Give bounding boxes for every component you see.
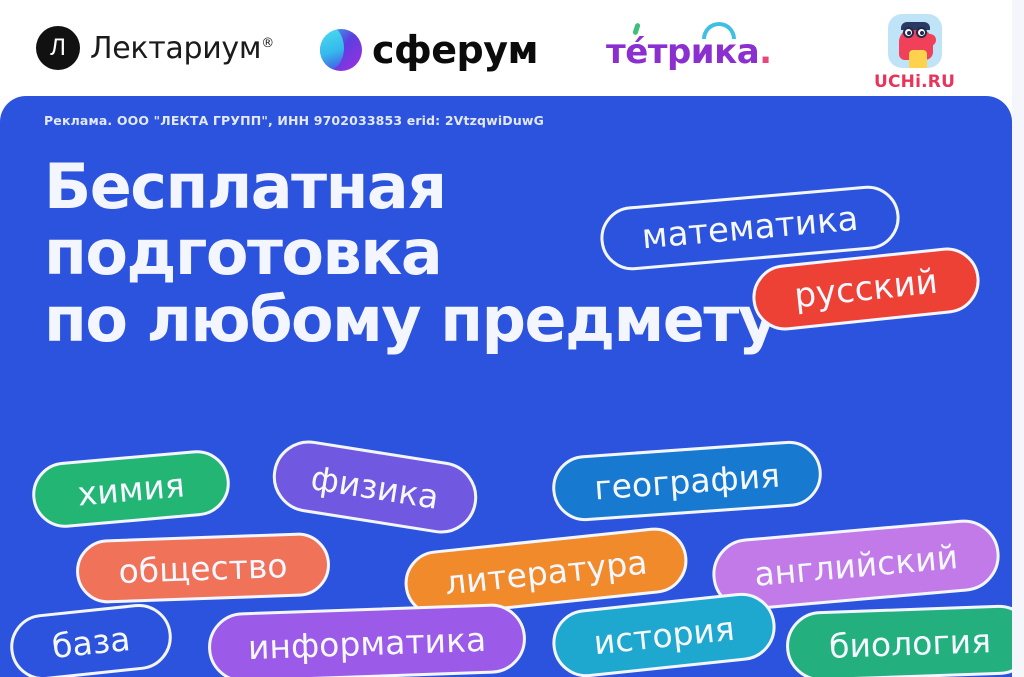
subject-pill[interactable]: общество: [75, 532, 331, 605]
registered-trademark-icon: ®: [261, 36, 274, 51]
uchi-mascot-icon: [888, 14, 942, 68]
ad-banner-page: Л Лектариум® сферум тéтрика.: [0, 0, 1024, 677]
uchi-mascot-eye-right: [916, 27, 927, 38]
subject-pill[interactable]: история: [549, 589, 779, 677]
promo-banner[interactable]: Реклама. ООО "ЛЕКТА ГРУПП", ИНН 97020338…: [0, 96, 1012, 677]
subject-pill-label: английский: [753, 537, 960, 594]
tetrika-wordmark: тéтрика.: [606, 32, 772, 72]
lektarium-wordmark: Лектариум®: [90, 31, 274, 66]
lektarium-badge-icon: Л: [36, 26, 80, 70]
subject-pill-label: география: [593, 455, 781, 507]
tetrika-wordmark-text: тéтрика: [606, 32, 759, 72]
logo-sferum[interactable]: сферум: [320, 28, 538, 72]
logo-lektarium[interactable]: Л Лектариум®: [36, 26, 274, 70]
subject-pill-label: общество: [118, 546, 288, 591]
subject-pill-label: математика: [640, 199, 860, 258]
logo-tetrika[interactable]: тéтрика.: [606, 32, 772, 72]
lektarium-wordmark-text: Лектариум: [90, 31, 261, 66]
ad-disclaimer-text: Реклама. ООО "ЛЕКТА ГРУПП", ИНН 97020338…: [44, 113, 544, 128]
partner-logo-strip: Л Лектариум® сферум тéтрика.: [0, 0, 1024, 96]
subject-pill[interactable]: география: [550, 439, 824, 524]
subject-pill-label: химия: [76, 465, 186, 513]
subject-pill-label: физика: [308, 458, 441, 517]
uchi-ru-wordmark: UCHi.RU: [874, 72, 955, 92]
subject-pill-label: база: [50, 619, 132, 666]
subject-pill-label: биология: [828, 621, 991, 666]
subject-pill-label: информатика: [247, 619, 487, 666]
subject-pill-label: история: [592, 608, 737, 662]
sferum-orb-icon: [320, 29, 362, 71]
uchi-mascot-belly: [909, 50, 927, 68]
subject-pill[interactable]: информатика: [207, 602, 527, 677]
tetrika-arc-icon: [702, 22, 736, 39]
subject-pill-label: литература: [443, 542, 649, 602]
sferum-wordmark: сферум: [372, 28, 538, 72]
logo-uchi-ru[interactable]: UCHi.RU: [874, 14, 955, 92]
subject-pill-label: русский: [792, 262, 939, 317]
uchi-mascot-eye-left: [903, 27, 914, 38]
page-right-gutter: [1012, 0, 1024, 677]
subject-pill[interactable]: база: [7, 601, 175, 677]
tetrika-dot-icon: .: [759, 32, 771, 72]
subject-pill[interactable]: биология: [785, 604, 1012, 677]
subject-pill[interactable]: физика: [268, 435, 483, 538]
subject-pill[interactable]: химия: [30, 447, 233, 530]
